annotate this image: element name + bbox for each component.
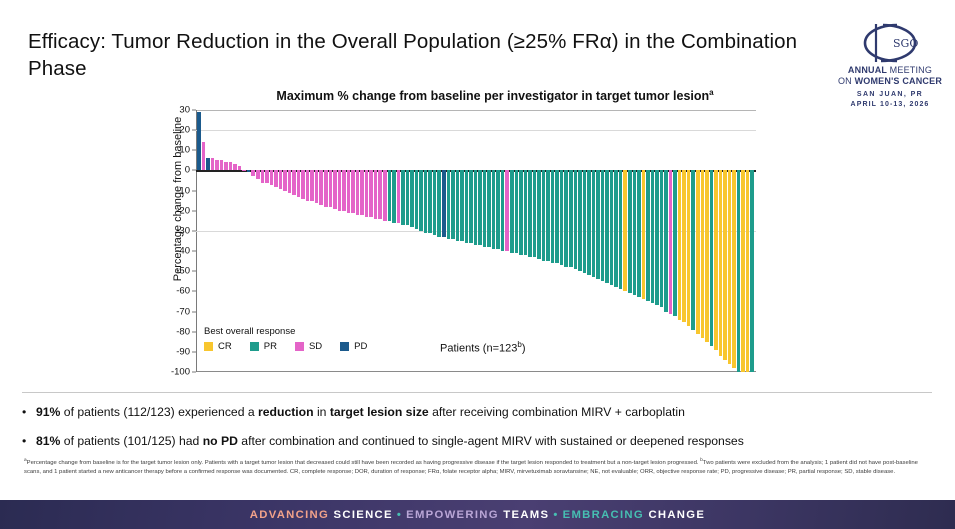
chart-bar <box>673 170 677 315</box>
x-axis-label: Patients (n=123b) <box>440 340 526 355</box>
chart-bar <box>505 170 509 251</box>
chart-bar <box>701 170 705 337</box>
chart-bar <box>682 170 686 321</box>
chart-bar <box>220 160 224 170</box>
footnote-marker-a: a <box>24 458 27 463</box>
logo-annual: ANNUAL <box>848 65 887 75</box>
chart-bar <box>197 112 201 170</box>
y-tick-mark <box>192 271 196 272</box>
y-tick-mark <box>192 331 196 332</box>
page-title: Efficacy: Tumor Reduction in the Overall… <box>28 28 828 82</box>
logo-womens-cancer: WOMEN'S CANCER <box>855 76 942 86</box>
chart-bar <box>324 170 328 206</box>
y-tick-mark <box>192 372 196 373</box>
logo-city: SAN JUAN, PR <box>835 90 945 100</box>
chart-bar <box>750 170 754 372</box>
chart-bar <box>492 170 496 249</box>
chart-bar <box>551 170 555 263</box>
y-tick-mark <box>192 351 196 352</box>
chart-bar <box>501 170 505 251</box>
legend-swatch-sd <box>295 342 304 351</box>
chart-bar <box>633 170 637 295</box>
chart-bar <box>487 170 491 247</box>
chart-bar <box>628 170 632 293</box>
chart-bar <box>374 170 378 218</box>
chart-bar <box>655 170 659 305</box>
y-tick-mark <box>192 311 196 312</box>
chart-bar <box>338 170 342 210</box>
chart-bar <box>605 170 609 283</box>
chart-bar <box>537 170 541 259</box>
chart-title-superscript: a <box>709 88 713 97</box>
chart-bar <box>211 158 215 170</box>
chart-bar <box>383 170 387 220</box>
bullet-list: •91% of patients (112/123) experienced a… <box>22 403 932 450</box>
chart-bar <box>410 170 414 226</box>
chart-bar <box>746 170 750 372</box>
chart-title: Maximum % change from baseline per inves… <box>210 88 780 103</box>
chart-bar <box>691 170 695 329</box>
chart-bar <box>664 170 668 311</box>
chart-bar <box>510 170 514 253</box>
chart-bar <box>365 170 369 216</box>
chart-bar <box>610 170 614 285</box>
x-axis-label-suffix: ) <box>522 343 526 355</box>
divider <box>22 392 932 393</box>
chart-bar <box>360 170 364 214</box>
chart-bar <box>542 170 546 261</box>
chart-bar <box>515 170 519 253</box>
logo-on: ON <box>838 76 852 86</box>
footnote: aPercentage change from baseline is for … <box>24 456 934 477</box>
chart-bar <box>623 170 627 291</box>
logo-meeting: MEETING <box>890 65 932 75</box>
chart-bar <box>469 170 473 243</box>
chart-bar <box>401 170 405 224</box>
chart-bar <box>256 170 260 178</box>
bullet-text: 81% of patients (101/125) had no PD afte… <box>36 432 744 450</box>
bullet-marker: • <box>22 432 36 450</box>
chart-bar <box>646 170 650 301</box>
chart-bar <box>388 170 392 220</box>
chart-bar <box>583 170 587 273</box>
chart-bar <box>524 170 528 255</box>
legend-title: Best overall response <box>204 326 367 337</box>
legend-item-pr: PR <box>250 341 277 352</box>
chart-bar <box>229 162 233 170</box>
footnote-marker-b: b <box>700 458 703 463</box>
chart-bar <box>424 170 428 232</box>
legend-label-sd: SD <box>309 341 322 352</box>
chart-bar <box>283 170 287 190</box>
chart-bar <box>496 170 500 249</box>
y-tick-mark <box>192 251 196 252</box>
logo-line-1: ANNUAL MEETING <box>835 65 945 76</box>
chart-bar <box>710 170 714 345</box>
chart-bar <box>356 170 360 214</box>
footer-word-science: SCIENCE <box>334 509 393 521</box>
chart-bar <box>687 170 691 325</box>
chart-bar <box>406 170 410 224</box>
legend-item-pd: PD <box>340 341 367 352</box>
chart-bar <box>528 170 532 257</box>
chart-bar <box>465 170 469 243</box>
chart-bar <box>333 170 337 208</box>
chart-bar <box>587 170 591 275</box>
chart-bar <box>728 170 732 363</box>
chart-bar <box>351 170 355 212</box>
chart-bar <box>619 170 623 289</box>
chart-bar <box>428 170 432 232</box>
chart-bar <box>437 170 441 237</box>
chart-bar <box>533 170 537 257</box>
bullet-item: •91% of patients (112/123) experienced a… <box>22 403 932 421</box>
chart-bar <box>483 170 487 247</box>
footer-separator-1: • <box>397 509 402 521</box>
chart-bar <box>705 170 709 341</box>
chart-bar <box>306 170 310 200</box>
legend-swatch-cr <box>204 342 213 351</box>
y-tick-mark <box>192 190 196 191</box>
chart-bar <box>447 170 451 239</box>
chart-bar <box>433 170 437 234</box>
chart-bar <box>564 170 568 267</box>
y-tick-mark <box>192 291 196 292</box>
chart-bar <box>329 170 333 206</box>
chart-bar <box>474 170 478 245</box>
legend-label-pr: PR <box>264 341 277 352</box>
y-tick-mark <box>192 150 196 151</box>
chart-bar <box>292 170 296 194</box>
chart-bar <box>569 170 573 267</box>
chart-bar <box>215 160 219 170</box>
chart-bar <box>637 170 641 297</box>
sgo-logo-mark: SGO <box>835 22 945 64</box>
chart-bar <box>592 170 596 277</box>
chart-bar <box>415 170 419 228</box>
footer-separator-2: • <box>553 509 558 521</box>
chart-bar <box>301 170 305 198</box>
legend-item-cr: CR <box>204 341 232 352</box>
chart-bar <box>397 170 401 222</box>
chart-bar <box>206 158 210 170</box>
chart-bar <box>392 170 396 222</box>
x-axis-label-text: Patients (n=123 <box>440 343 517 355</box>
sgo-logo: SGO ANNUAL MEETING ON WOMEN'S CANCER SAN… <box>835 22 945 110</box>
chart-bar <box>274 170 278 186</box>
chart-bar <box>678 170 682 319</box>
bullet-item: •81% of patients (101/125) had no PD aft… <box>22 432 932 450</box>
chart-bar <box>614 170 618 287</box>
footer-banner: ADVANCING SCIENCE•EMPOWERING TEAMS•EMBRA… <box>0 500 955 529</box>
y-tick-mark <box>192 110 196 111</box>
chart-bar <box>342 170 346 210</box>
footer-tagline: ADVANCING SCIENCE•EMPOWERING TEAMS•EMBRA… <box>0 509 955 521</box>
chart-bar <box>574 170 578 269</box>
footer-word-embracing: EMBRACING <box>563 509 644 521</box>
chart-bar <box>519 170 523 255</box>
legend-swatch-pr <box>250 342 259 351</box>
chart-bar <box>238 166 242 170</box>
legend-swatch-pd <box>340 342 349 351</box>
chart-bar <box>247 170 251 172</box>
chart-bar <box>696 170 700 333</box>
chart-bar <box>601 170 605 281</box>
chart-bar <box>297 170 301 196</box>
chart-bar <box>442 170 446 237</box>
bullet-marker: • <box>22 403 36 421</box>
chart-bar <box>265 170 269 182</box>
chart-bar <box>456 170 460 241</box>
chart-bar <box>669 170 673 313</box>
chart-bar <box>651 170 655 303</box>
svg-text:SGO: SGO <box>893 37 918 50</box>
chart-bar <box>419 170 423 230</box>
chart-bar <box>737 170 741 372</box>
chart-bar <box>224 162 228 170</box>
footer-word-teams: TEAMS <box>503 509 549 521</box>
chart-bar <box>555 170 559 263</box>
chart-bar <box>732 170 736 368</box>
chart-bar <box>460 170 464 241</box>
legend-label-cr: CR <box>218 341 232 352</box>
chart-bar <box>642 170 646 299</box>
chart-bar <box>288 170 292 192</box>
footer-word-advancing: ADVANCING <box>250 509 329 521</box>
logo-dates: APRIL 10-13, 2026 <box>835 100 945 110</box>
chart-bar <box>660 170 664 307</box>
chart-bar <box>714 170 718 349</box>
chart-bar <box>378 170 382 218</box>
waterfall-chart: Maximum % change from baseline per inves… <box>150 88 780 383</box>
chart-bar <box>369 170 373 216</box>
legend-item-sd: SD <box>295 341 322 352</box>
chart-bar <box>251 170 255 176</box>
chart-bar <box>347 170 351 212</box>
chart-bar <box>310 170 314 200</box>
chart-bar <box>596 170 600 279</box>
chart-bar <box>719 170 723 355</box>
chart-bar <box>451 170 455 239</box>
chart-bar <box>242 170 246 171</box>
chart-bar <box>270 170 274 184</box>
legend-items: CRPRSDPD <box>204 341 367 352</box>
chart-bar <box>261 170 265 182</box>
chart-bar <box>315 170 319 202</box>
footer-word-empowering: EMPOWERING <box>406 509 499 521</box>
chart-legend: Best overall response CRPRSDPD <box>204 326 367 352</box>
chart-title-text: Maximum % change from baseline per inves… <box>276 89 709 103</box>
y-tick-mark <box>192 210 196 211</box>
chart-bar <box>560 170 564 265</box>
chart-bar <box>723 170 727 359</box>
chart-bar <box>279 170 283 188</box>
chart-bar <box>546 170 550 261</box>
logo-line-2: ON WOMEN'S CANCER <box>835 76 945 87</box>
chart-bar <box>233 164 237 170</box>
legend-label-pd: PD <box>354 341 367 352</box>
chart-bar <box>319 170 323 204</box>
chart-bar <box>578 170 582 271</box>
chart-bar <box>741 170 745 372</box>
key-findings: •91% of patients (112/123) experienced a… <box>22 392 932 461</box>
footer-word-change: CHANGE <box>648 509 705 521</box>
chart-bar <box>478 170 482 245</box>
bullet-text: 91% of patients (112/123) experienced a … <box>36 403 685 421</box>
chart-bar <box>202 142 206 170</box>
